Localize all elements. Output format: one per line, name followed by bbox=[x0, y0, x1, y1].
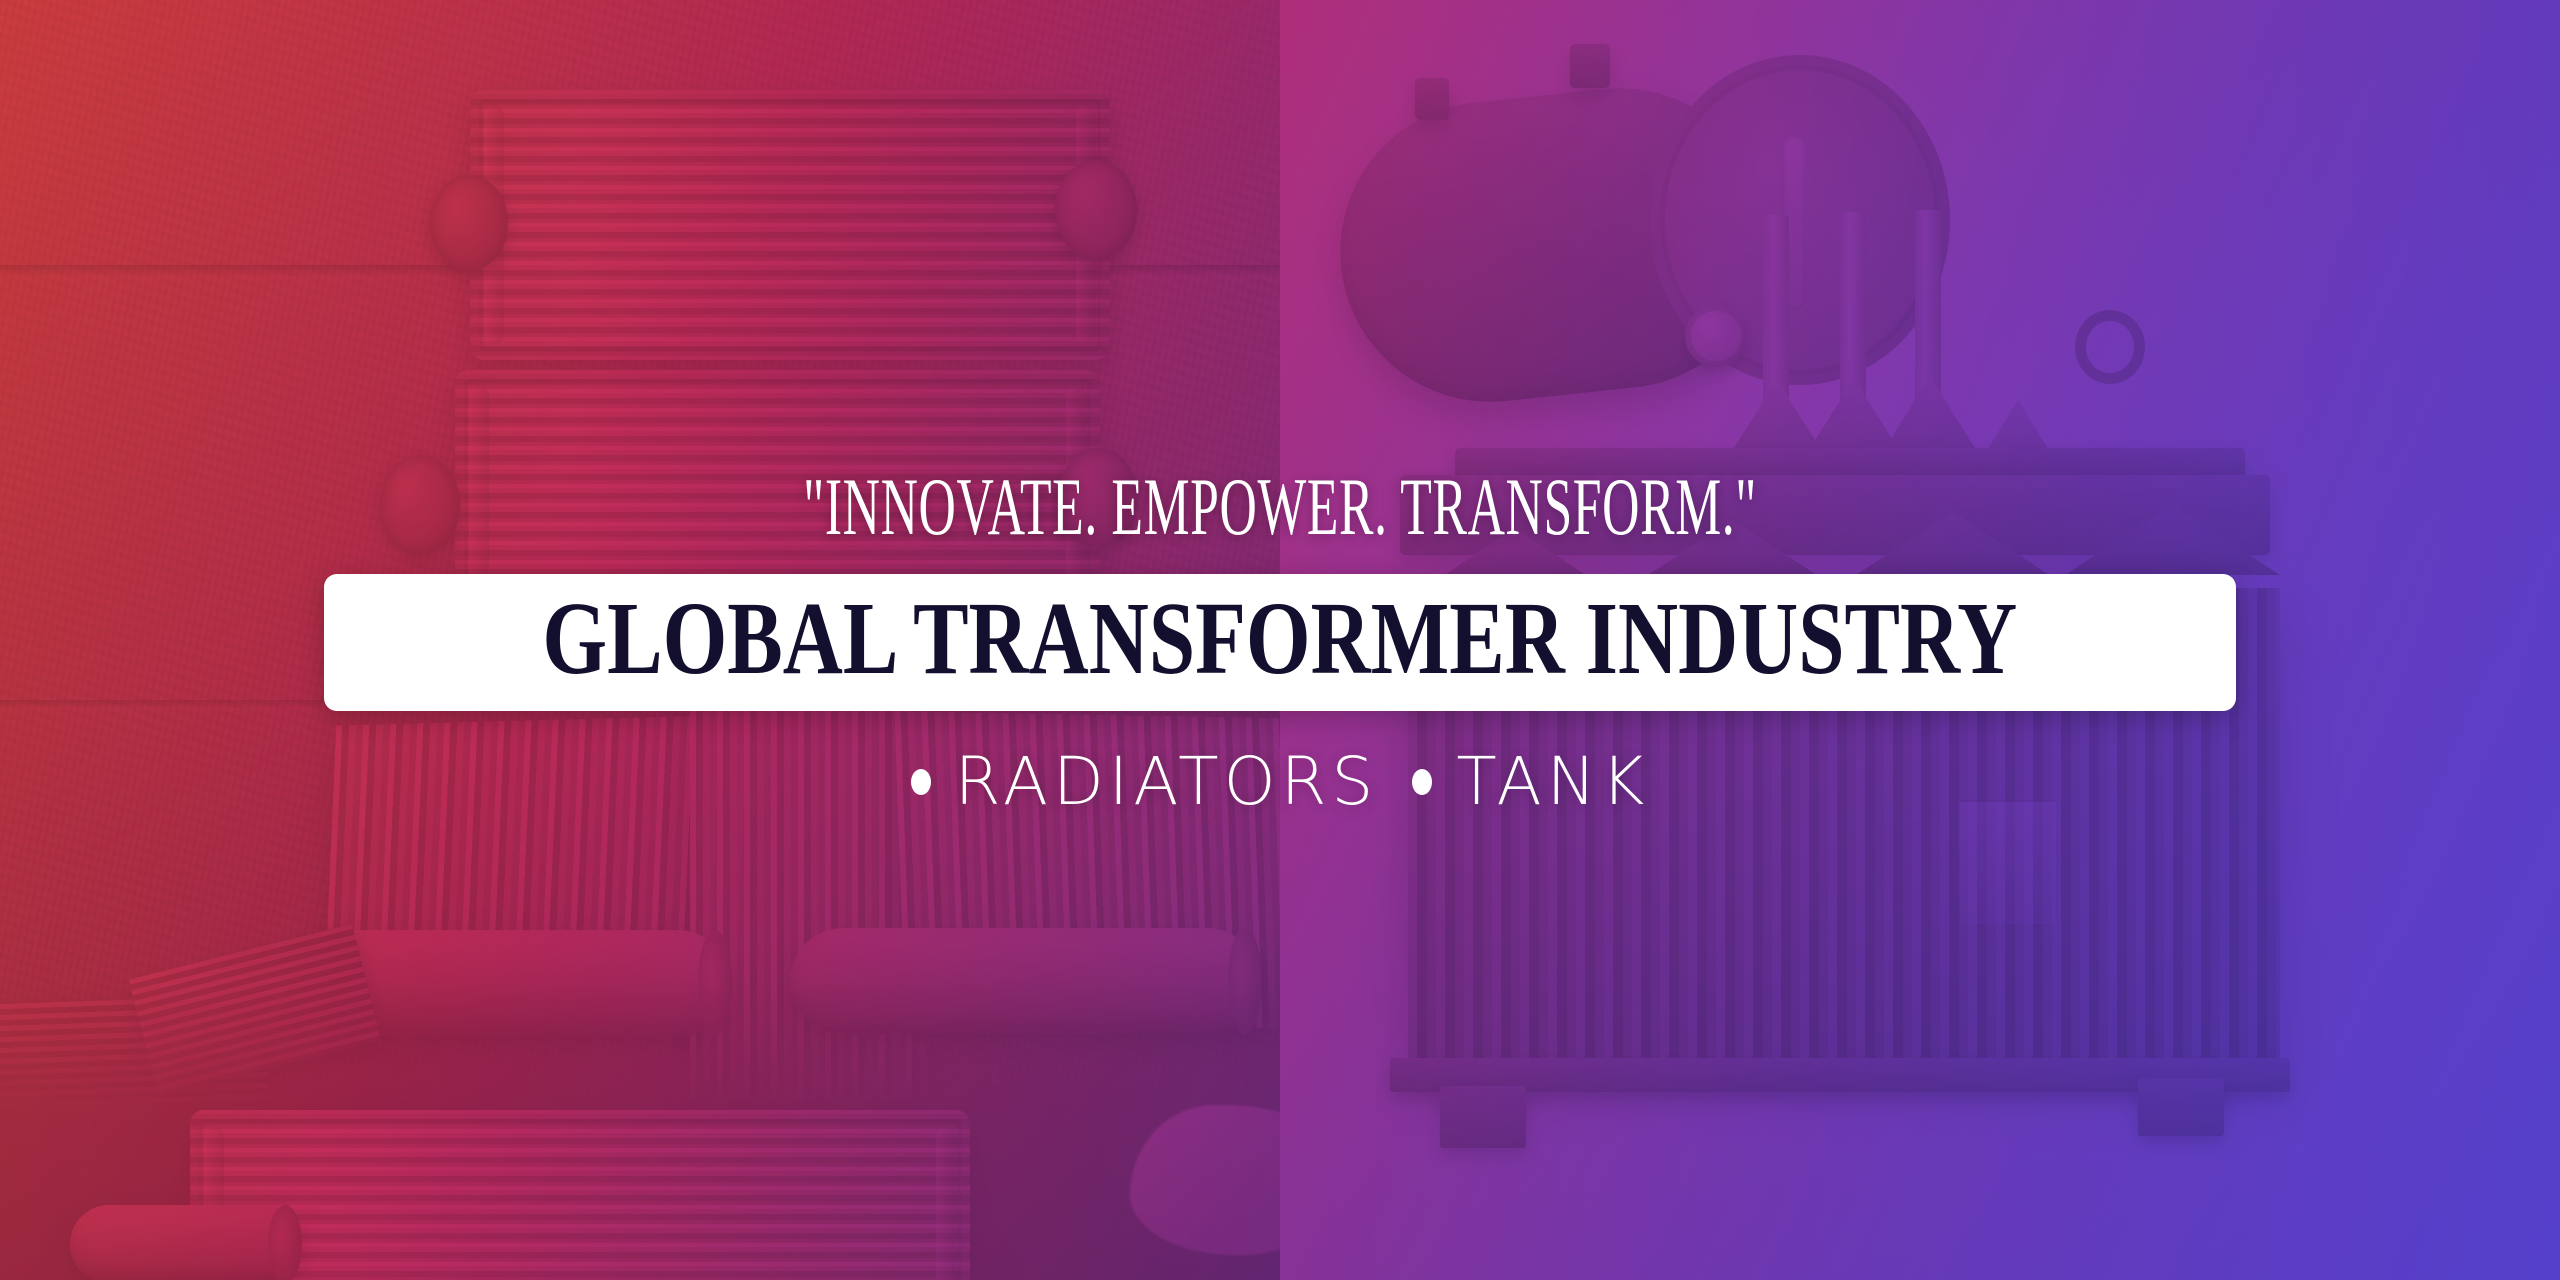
product-item-tank: TANK bbox=[1412, 749, 1649, 815]
page-title: GLOBAL TRANSFORMER INDUSTRY bbox=[543, 587, 2018, 691]
product-label: RADIATORS bbox=[955, 749, 1379, 815]
bullet-icon bbox=[911, 769, 931, 795]
tagline: "INNOVATE. EMPOWER. TRANSFORM." bbox=[803, 466, 1757, 548]
bullet-icon bbox=[1412, 769, 1432, 795]
product-item-radiators: RADIATORS bbox=[911, 749, 1379, 815]
promotional-banner: "INNOVATE. EMPOWER. TRANSFORM." GLOBAL T… bbox=[0, 0, 2560, 1280]
banner-content: "INNOVATE. EMPOWER. TRANSFORM." GLOBAL T… bbox=[0, 0, 2560, 1280]
product-label: TANK bbox=[1456, 749, 1649, 815]
title-card: GLOBAL TRANSFORMER INDUSTRY bbox=[324, 574, 2236, 711]
product-list: RADIATORS TANK bbox=[911, 749, 1650, 815]
